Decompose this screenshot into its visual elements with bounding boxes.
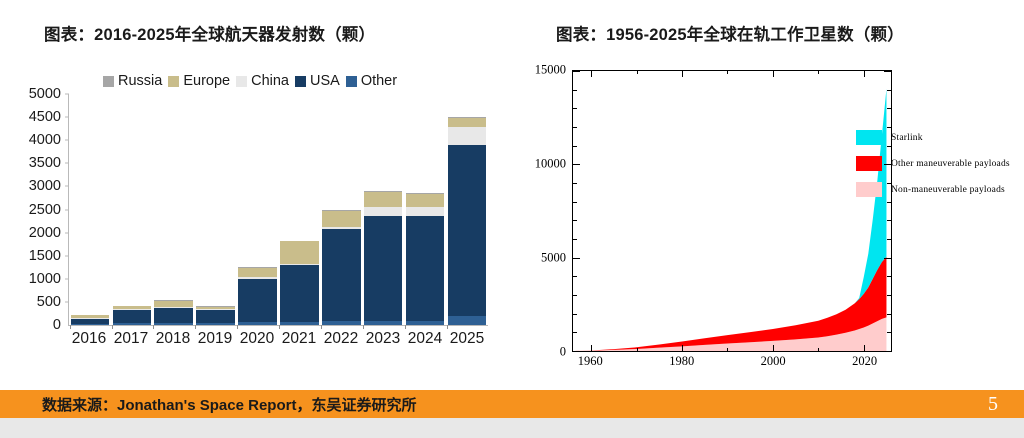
- bar-segment-other: [364, 321, 403, 325]
- y-axis-tick-mark: [887, 314, 891, 315]
- page-number: 5: [988, 393, 1024, 416]
- data-source-text: 数据来源：Jonathan's Space Report，东吴证券研究所: [0, 394, 416, 415]
- right-chart-title: 图表：1956-2025年全球在轨工作卫星数（颗）: [556, 21, 904, 45]
- legend-swatch-icon: [856, 130, 882, 145]
- x-axis-tick-mark: [363, 325, 364, 329]
- bar-segment-europe: [364, 192, 403, 207]
- y-axis-tick-mark: [573, 202, 577, 203]
- y-axis-tick-label: 4000: [29, 132, 69, 148]
- y-axis-tick-mark: [573, 127, 577, 128]
- x-axis-tick-mark: [773, 345, 774, 351]
- footer-strip: [0, 418, 1024, 438]
- bar-segment-china: [364, 207, 403, 216]
- bar-column: [113, 94, 152, 325]
- x-axis-tick-label: 2018: [154, 330, 193, 348]
- right-chart-x-axis: 1960198020002020: [572, 354, 892, 372]
- legend-item: Starlink: [856, 130, 1024, 145]
- legend-item: Non-maneuverable payloads: [856, 182, 1024, 197]
- x-axis-tick-mark: [447, 325, 448, 329]
- bar-column: [322, 94, 361, 325]
- x-axis-tick-mark: [818, 348, 819, 351]
- x-axis-tick-label: 2022: [322, 330, 361, 348]
- y-axis-tick-label: 2500: [29, 202, 69, 218]
- y-axis-tick-mark: [884, 258, 891, 259]
- bar-segment-other: [154, 323, 193, 325]
- legend-item-china: China: [236, 73, 289, 89]
- bar-segment-usa: [196, 310, 235, 323]
- bar-column: [71, 94, 110, 325]
- left-chart-x-axis: 2016201720182019202020212022202320242025: [68, 330, 488, 348]
- bar-segment-usa: [154, 308, 193, 323]
- x-axis-tick-mark: [637, 71, 638, 74]
- left-chart-title: 图表：2016-2025年全球航天器发射数（颗）: [44, 21, 375, 45]
- x-axis-tick-label: 2019: [196, 330, 235, 348]
- x-axis-tick-mark: [637, 348, 638, 351]
- y-axis-tick-mark: [573, 146, 577, 147]
- y-axis-tick-mark: [573, 164, 580, 165]
- y-axis-tick-mark: [573, 314, 577, 315]
- y-axis-tick-label: 0: [508, 345, 573, 360]
- y-axis-tick-mark: [573, 258, 580, 259]
- bar-segment-europe: [406, 194, 445, 206]
- operational-satellites-chart: 050001000015000 1960198020002020 Starlin…: [508, 62, 1018, 362]
- x-axis-tick-mark: [591, 345, 592, 351]
- y-axis-tick-mark: [573, 332, 577, 333]
- bar-segment-usa: [406, 216, 445, 321]
- x-axis-tick-label: 2024: [406, 330, 445, 348]
- y-axis-tick-label: 1500: [29, 248, 69, 264]
- legend-item-europe: Europe: [168, 73, 230, 89]
- y-axis-tick-mark: [887, 220, 891, 221]
- x-axis-tick-mark: [864, 71, 865, 77]
- bar-segment-usa: [448, 145, 487, 316]
- bar-segment-other: [113, 323, 152, 325]
- bar-segment-europe: [238, 268, 277, 278]
- x-axis-tick-mark: [112, 325, 113, 329]
- bar-segment-other: [71, 324, 110, 325]
- bar-segment-other: [322, 321, 361, 325]
- legend-label: Other: [361, 73, 397, 89]
- x-axis-tick-label: 2016: [70, 330, 109, 348]
- legend-label: Europe: [183, 73, 230, 89]
- legend-label: USA: [310, 73, 340, 89]
- bar-segment-usa: [364, 216, 403, 321]
- bar-column: [154, 94, 193, 325]
- y-axis-tick-mark: [887, 108, 891, 109]
- y-axis-tick-label: 10000: [508, 157, 573, 172]
- y-axis-tick-mark: [573, 108, 577, 109]
- x-axis-tick-mark: [70, 325, 71, 329]
- legend-swatch-icon: [856, 182, 882, 197]
- x-axis-tick-mark: [195, 325, 196, 329]
- bar-segment-other: [196, 323, 235, 325]
- legend-label: Other maneuverable payloads: [891, 159, 1010, 169]
- bar-segment-europe: [322, 211, 361, 227]
- y-axis-tick-mark: [573, 276, 577, 277]
- bar-segment-china: [406, 207, 445, 216]
- right-chart-area-svg: [573, 71, 891, 351]
- y-axis-tick-mark: [573, 295, 577, 296]
- x-axis-tick-label: 2023: [364, 330, 403, 348]
- bar-column: [448, 94, 487, 325]
- spacecraft-launches-chart: RussiaEuropeChinaUSAOther 05001000150020…: [8, 62, 498, 362]
- left-chart-bars: [69, 94, 488, 325]
- y-axis-tick-label: 4500: [29, 109, 69, 125]
- y-axis-tick-mark: [573, 71, 580, 72]
- x-axis-tick-mark: [727, 71, 728, 74]
- bar-segment-usa: [280, 265, 319, 322]
- y-axis-tick-label: 0: [53, 317, 69, 333]
- x-axis-tick-label: 2017: [112, 330, 151, 348]
- x-axis-tick-mark: [321, 325, 322, 329]
- legend-swatch-icon: [236, 76, 247, 87]
- y-axis-tick-mark: [887, 90, 891, 91]
- y-axis-tick-label: 1000: [29, 271, 69, 287]
- right-chart-legend: StarlinkOther maneuverable payloadsNon-m…: [856, 130, 1024, 208]
- y-axis-tick-mark: [573, 90, 577, 91]
- x-axis-tick-label: 2021: [280, 330, 319, 348]
- y-axis-tick-label: 3000: [29, 178, 69, 194]
- y-axis-tick-mark: [573, 239, 577, 240]
- x-axis-tick-label: 1960: [578, 354, 603, 369]
- bar-column: [406, 94, 445, 325]
- bar-segment-usa: [113, 310, 152, 323]
- bar-segment-usa: [238, 279, 277, 322]
- bar-column: [238, 94, 277, 325]
- x-axis-tick-mark: [237, 325, 238, 329]
- x-axis-tick-mark: [682, 71, 683, 77]
- bar-segment-europe: [280, 241, 319, 263]
- x-axis-tick-label: 2000: [761, 354, 786, 369]
- x-axis-tick-label: 1980: [669, 354, 694, 369]
- x-axis-tick-mark: [864, 345, 865, 351]
- legend-label: Russia: [118, 73, 162, 89]
- area-series-starlink: [573, 89, 886, 351]
- y-axis-tick-mark: [887, 295, 891, 296]
- legend-swatch-icon: [168, 76, 179, 87]
- bar-segment-usa: [322, 229, 361, 321]
- bar-segment-other: [406, 321, 445, 325]
- y-axis-tick-mark: [573, 351, 580, 352]
- y-axis-tick-label: 5000: [29, 86, 69, 102]
- y-axis-tick-mark: [887, 332, 891, 333]
- legend-item: Other maneuverable payloads: [856, 156, 1024, 171]
- x-axis-tick-mark: [773, 71, 774, 77]
- legend-swatch-icon: [295, 76, 306, 87]
- left-chart-legend: RussiaEuropeChinaUSAOther: [103, 72, 443, 90]
- x-axis-tick-label: 2020: [238, 330, 277, 348]
- x-axis-tick-mark: [405, 325, 406, 329]
- slide-canvas: 图表：2016-2025年全球航天器发射数（颗） RussiaEuropeChi…: [0, 0, 1024, 438]
- x-axis-tick-mark: [279, 325, 280, 329]
- bar-column: [196, 94, 235, 325]
- y-axis-tick-mark: [573, 220, 577, 221]
- legend-item-usa: USA: [295, 73, 340, 89]
- legend-label: Starlink: [891, 133, 923, 143]
- legend-swatch-icon: [103, 76, 114, 87]
- y-axis-tick-mark: [884, 71, 891, 72]
- bar-column: [280, 94, 319, 325]
- legend-item-russia: Russia: [103, 73, 162, 89]
- bar-column: [364, 94, 403, 325]
- legend-swatch-icon: [346, 76, 357, 87]
- bar-segment-other: [280, 322, 319, 325]
- x-axis-tick-label: 2025: [448, 330, 487, 348]
- bar-segment-other: [238, 322, 277, 325]
- y-axis-tick-label: 15000: [508, 63, 573, 78]
- left-chart-plot-area: 0500100015002000250030003500400045005000: [68, 94, 488, 326]
- bar-segment-europe: [448, 118, 487, 127]
- y-axis-tick-mark: [887, 127, 891, 128]
- y-axis-tick-label: 3500: [29, 155, 69, 171]
- y-axis-tick-mark: [887, 276, 891, 277]
- y-axis-tick-label: 5000: [508, 251, 573, 266]
- bar-segment-china: [448, 127, 487, 145]
- legend-label: China: [251, 73, 289, 89]
- x-axis-tick-mark: [591, 71, 592, 77]
- legend-item-other: Other: [346, 73, 397, 89]
- x-axis-tick-mark: [682, 345, 683, 351]
- y-axis-tick-label: 2000: [29, 225, 69, 241]
- x-axis-tick-mark: [153, 325, 154, 329]
- y-axis-tick-mark: [884, 351, 891, 352]
- right-chart-plot-area: [572, 70, 892, 352]
- y-axis-tick-mark: [573, 183, 577, 184]
- y-axis-tick-mark: [887, 239, 891, 240]
- x-axis-tick-mark: [818, 71, 819, 74]
- bar-segment-other: [448, 316, 487, 325]
- legend-swatch-icon: [856, 156, 882, 171]
- footer-bar: 数据来源：Jonathan's Space Report，东吴证券研究所 5: [0, 390, 1024, 418]
- legend-label: Non-maneuverable payloads: [891, 185, 1005, 195]
- x-axis-tick-mark: [727, 348, 728, 351]
- x-axis-tick-label: 2020: [852, 354, 877, 369]
